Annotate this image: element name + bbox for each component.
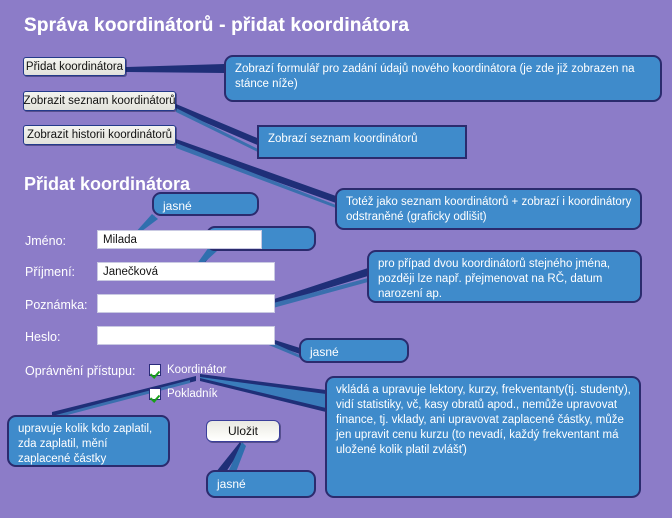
save-button[interactable]: Uložit — [206, 420, 280, 442]
input-poznamka[interactable] — [97, 294, 275, 313]
show-coordinator-history-button[interactable]: Zobrazit historii koordinátorů — [23, 125, 176, 145]
input-jmeno[interactable]: Milada — [97, 230, 262, 249]
callout-add-form: Zobrazí formulář pro zadání údajů nového… — [224, 55, 662, 102]
checkbox-pokladnik[interactable] — [149, 388, 161, 400]
annotated-screenshot: Správa koordinátorů - přidat koordinátor… — [0, 0, 672, 518]
callout-note: pro případ dvou koordinátorů stejného jm… — [367, 250, 642, 303]
input-heslo[interactable] — [97, 326, 275, 345]
add-coordinator-button[interactable]: Přidat koordinátora — [23, 57, 126, 76]
checkbox-row-pokladnik[interactable]: Pokladník — [149, 388, 218, 400]
label-poznamka: Poznámka: — [25, 298, 88, 312]
label-opravneni-pristupu: Oprávnění přístupu: — [25, 364, 135, 378]
callout-history: Totéž jako seznam koordinátorů + zobrazí… — [335, 188, 642, 230]
input-prijmeni[interactable]: Janečková — [97, 262, 275, 281]
checkbox-label-koordinator: Koordinátor — [167, 364, 226, 376]
callout-list: Zobrazí seznam koordinátorů — [257, 125, 467, 159]
callout-name-clear: jasné — [152, 192, 259, 216]
callout-save-clear: jasné — [206, 470, 316, 498]
show-coordinator-list-button[interactable]: Zobrazit seznam koordinátorů — [23, 91, 176, 111]
checkbox-label-pokladnik: Pokladník — [167, 388, 218, 400]
checkbox-row-koordinator[interactable]: Koordinátor — [149, 364, 226, 376]
label-heslo: Heslo: — [25, 330, 60, 344]
callout-coordinator-role: vkládá a upravuje lektory, kurzy, frekve… — [325, 376, 641, 498]
label-prijmeni: Příjmení: — [25, 265, 75, 279]
callout-password-clear: jasné — [299, 338, 409, 363]
checkbox-koordinator[interactable] — [149, 364, 161, 376]
label-jmeno: Jméno: — [25, 234, 66, 248]
callout-cashier-role: upravuje kolik kdo zaplatil, zda zaplati… — [7, 415, 170, 467]
